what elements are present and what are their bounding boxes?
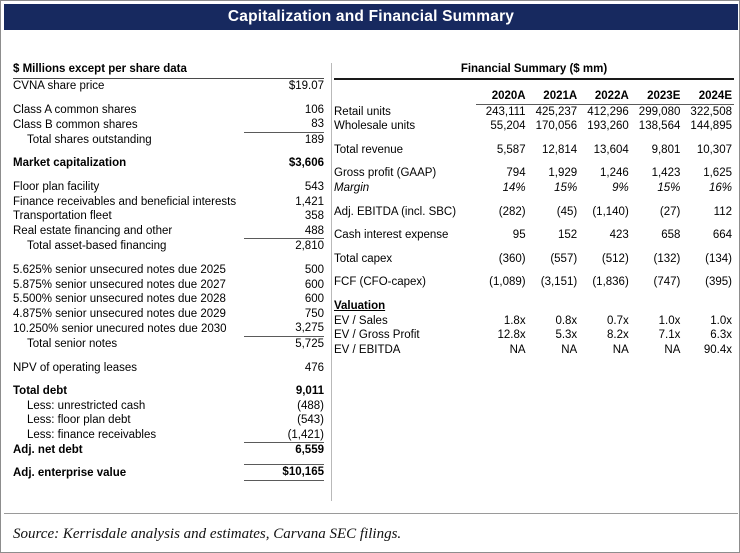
row-value: 189 [244,132,324,147]
valuation-row: EV / Gross Profit12.8x5.3x8.2x7.1x6.3x [334,328,734,343]
row-label: Real estate financing and other [13,224,244,239]
capitalization-row: Finance receivables and beneficial inter… [13,195,324,210]
row-label: Total senior notes [13,336,244,351]
row-value: 83 [244,117,324,132]
row-label: Total revenue [334,143,476,158]
row-value: 1,246 [579,166,631,181]
row-label: Floor plan facility [13,180,244,195]
capitalization-header: $ Millions except per share data [13,63,324,79]
row-label: Less: finance receivables [13,428,244,443]
capitalization-row: Total asset-based financing2,810 [13,239,324,254]
row-label: Cash interest expense [334,228,476,243]
row-value: 152 [528,228,580,243]
row-label: Transportation fleet [13,209,244,224]
row-label: Adj. EBITDA (incl. SBC) [334,205,476,220]
financial-summary-panel: Financial Summary ($ mm) 2020A2021A2022A… [334,63,734,357]
valuation-row: EV / EBITDANANANANA90.4x [334,343,734,358]
row-value: 9,801 [631,143,683,158]
row-value: 170,056 [528,119,580,134]
row-label: Less: floor plan debt [13,413,244,428]
row-value: 412,296 [579,104,631,119]
row-label: Wholesale units [334,119,476,134]
row-label: Gross profit (GAAP) [334,166,476,181]
capitalization-row: Total debt9,011 [13,384,324,399]
row-label: 5.875% senior unsecured notes due 2027 [13,278,244,293]
spacer-row [334,266,734,275]
row-value: (360) [476,252,528,267]
row-value: (45) [528,205,580,220]
financial-row: Total capex(360)(557)(512)(132)(134) [334,252,734,267]
row-value: 144,895 [682,119,734,134]
row-value: 12.8x [476,328,528,343]
spacer-row [13,171,324,180]
row-label: Retail units [334,104,476,119]
row-label: Margin [334,181,476,196]
financial-summary-table: 2020A2021A2022A2023E2024ERetail units243… [334,80,734,357]
row-value: 500 [244,263,324,278]
row-value: 3,275 [244,321,324,336]
valuation-header-row: Valuation [334,299,734,314]
spacer-row [334,80,734,89]
row-value: NA [528,343,580,358]
row-value: NA [631,343,683,358]
row-value: 12,814 [528,143,580,158]
capitalization-row: Total shares outstanding189 [13,132,324,147]
row-label: Less: unrestricted cash [13,399,244,414]
spacer-row [334,134,734,143]
row-label: CVNA share price [13,79,244,94]
footer-rule [4,513,738,514]
row-label: 4.875% senior unsecured notes due 2029 [13,307,244,322]
year-header-2023e: 2023E [631,89,683,104]
row-value: 423 [579,228,631,243]
row-label: Adj. enterprise value [13,465,244,481]
financial-row: Gross profit (GAAP)7941,9291,2461,4231,6… [334,166,734,181]
row-value: (557) [528,252,580,267]
year-header-2024e: 2024E [682,89,734,104]
spacer-row [13,94,324,103]
row-value: 14% [476,181,528,196]
row-value: 1,423 [631,166,683,181]
slide-canvas: Capitalization and Financial Summary $ M… [0,0,740,553]
financial-row: Margin14%15%9%15%16% [334,181,734,196]
row-value: $3,606 [244,156,324,171]
capitalization-row: Less: floor plan debt(543) [13,413,324,428]
financial-row: Total revenue5,58712,81413,6049,80110,30… [334,143,734,158]
financial-row: Retail units243,111425,237412,296299,080… [334,104,734,119]
row-value: 5,725 [244,336,324,351]
row-value: (1,140) [579,205,631,220]
row-label: EV / EBITDA [334,343,476,358]
row-value: 322,508 [682,104,734,119]
capitalization-row: Adj. net debt6,559 [13,443,324,458]
capitalization-row: 5.500% senior unsecured notes due 202860… [13,292,324,307]
row-value: 95 [476,228,528,243]
row-value: 664 [682,228,734,243]
row-value: 9% [579,181,631,196]
valuation-row: EV / Sales1.8x0.8x0.7x1.0x1.0x [334,314,734,329]
year-header-row: 2020A2021A2022A2023E2024E [334,89,734,104]
financial-summary-header: Financial Summary ($ mm) [334,63,734,80]
row-value: 425,237 [528,104,580,119]
row-label: EV / Gross Profit [334,328,476,343]
row-label: 5.500% senior unsecured notes due 2028 [13,292,244,307]
row-value: (512) [579,252,631,267]
row-value: 543 [244,180,324,195]
row-label: EV / Sales [334,314,476,329]
row-value: (1,089) [476,275,528,290]
row-value: 488 [244,224,324,239]
row-value: (27) [631,205,683,220]
capitalization-row: 10.250% senior unecured notes due 20303,… [13,321,324,336]
row-value: 5.3x [528,328,580,343]
financial-row: Wholesale units55,204170,056193,260138,5… [334,119,734,134]
row-value: 1.0x [682,314,734,329]
row-value: 1,625 [682,166,734,181]
row-label: Finance receivables and beneficial inter… [13,195,244,210]
row-value: 5,587 [476,143,528,158]
row-value: 1,421 [244,195,324,210]
capitalization-table: CVNA share price$19.07Class A common sha… [13,79,324,481]
row-value: 658 [631,228,683,243]
panel-divider [331,63,332,501]
row-value: 8.2x [579,328,631,343]
row-value: 1.0x [631,314,683,329]
row-value: (134) [682,252,734,267]
year-header-2021a: 2021A [528,89,580,104]
row-label: 10.250% senior unecured notes due 2030 [13,321,244,336]
row-label: Class A common shares [13,103,244,118]
row-value: 15% [631,181,683,196]
capitalization-row: CVNA share price$19.07 [13,79,324,94]
capitalization-row: Market capitalization$3,606 [13,156,324,171]
row-value: (282) [476,205,528,220]
row-label: Total capex [334,252,476,267]
slide-title-bar: Capitalization and Financial Summary [4,4,738,30]
financial-row: Adj. EBITDA (incl. SBC)(282)(45)(1,140)(… [334,205,734,220]
spacer-row [334,157,734,166]
row-value: 55,204 [476,119,528,134]
row-value: 15% [528,181,580,196]
capitalization-row: 5.625% senior unsecured notes due 202550… [13,263,324,278]
row-value: 600 [244,292,324,307]
capitalization-row: Class B common shares83 [13,117,324,132]
spacer-row [13,352,324,361]
row-label: 5.625% senior unsecured notes due 2025 [13,263,244,278]
row-value: 16% [682,181,734,196]
row-value: 600 [244,278,324,293]
row-label: NPV of operating leases [13,361,244,376]
year-header-spacer [334,89,476,104]
row-value: 138,564 [631,119,683,134]
row-value: 90.4x [682,343,734,358]
row-value: 1.8x [476,314,528,329]
row-value: 7.1x [631,328,683,343]
row-value: 106 [244,103,324,118]
capitalization-row: 4.875% senior unsecured notes due 202975… [13,307,324,322]
row-value: (3,151) [528,275,580,290]
row-value: 193,260 [579,119,631,134]
row-value: 112 [682,205,734,220]
capitalization-panel: $ Millions except per share data CVNA sh… [13,63,324,481]
row-value: 243,111 [476,104,528,119]
row-value: (543) [244,413,324,428]
capitalization-row: Real estate financing and other488 [13,224,324,239]
row-value: 0.8x [528,314,580,329]
row-label: Total asset-based financing [13,239,244,254]
row-value: (1,421) [244,428,324,443]
row-value: 0.7x [579,314,631,329]
row-value: (1,836) [579,275,631,290]
row-value: (395) [682,275,734,290]
year-header-2022a: 2022A [579,89,631,104]
source-note: Source: Kerrisdale analysis and estimate… [13,526,401,543]
spacer-row [13,375,324,384]
spacer-row [13,254,324,263]
row-value: 6.3x [682,328,734,343]
capitalization-row: Floor plan facility543 [13,180,324,195]
row-value: $19.07 [244,79,324,94]
row-value: 1,929 [528,166,580,181]
row-value: 6,559 [244,443,324,458]
row-value: NA [476,343,528,358]
financial-row: FCF (CFO-capex)(1,089)(3,151)(1,836)(747… [334,275,734,290]
row-value: 358 [244,209,324,224]
row-value: 2,810 [244,239,324,254]
financial-row: Cash interest expense95152423658664 [334,228,734,243]
row-label: Market capitalization [13,156,244,171]
year-header-2020a: 2020A [476,89,528,104]
row-label: Adj. net debt [13,443,244,458]
page-title: Capitalization and Financial Summary [228,8,514,26]
capitalization-row: Total senior notes5,725 [13,336,324,351]
row-value: 299,080 [631,104,683,119]
row-label: Total shares outstanding [13,132,244,147]
spacer-row [334,243,734,252]
capitalization-row: Less: finance receivables(1,421) [13,428,324,443]
row-value: NA [579,343,631,358]
row-value: $10,165 [244,465,324,481]
capitalization-row: Adj. enterprise value$10,165 [13,465,324,481]
row-value: 794 [476,166,528,181]
row-value: 750 [244,307,324,322]
row-value: 9,011 [244,384,324,399]
spacer-row [334,219,734,228]
row-value: 13,604 [579,143,631,158]
capitalization-row: NPV of operating leases476 [13,361,324,376]
row-value: (488) [244,399,324,414]
spacer-row [334,290,734,299]
spacer-row [334,196,734,205]
row-value: (132) [631,252,683,267]
row-value: (747) [631,275,683,290]
capitalization-row: 5.875% senior unsecured notes due 202760… [13,278,324,293]
capitalization-row: Less: unrestricted cash(488) [13,399,324,414]
row-label: FCF (CFO-capex) [334,275,476,290]
spacer-row [13,147,324,156]
row-label: Class B common shares [13,117,244,132]
row-value: 10,307 [682,143,734,158]
row-label: Total debt [13,384,244,399]
capitalization-row: Transportation fleet358 [13,209,324,224]
valuation-header: Valuation [334,299,476,314]
capitalization-row: Class A common shares106 [13,103,324,118]
row-value: 476 [244,361,324,376]
